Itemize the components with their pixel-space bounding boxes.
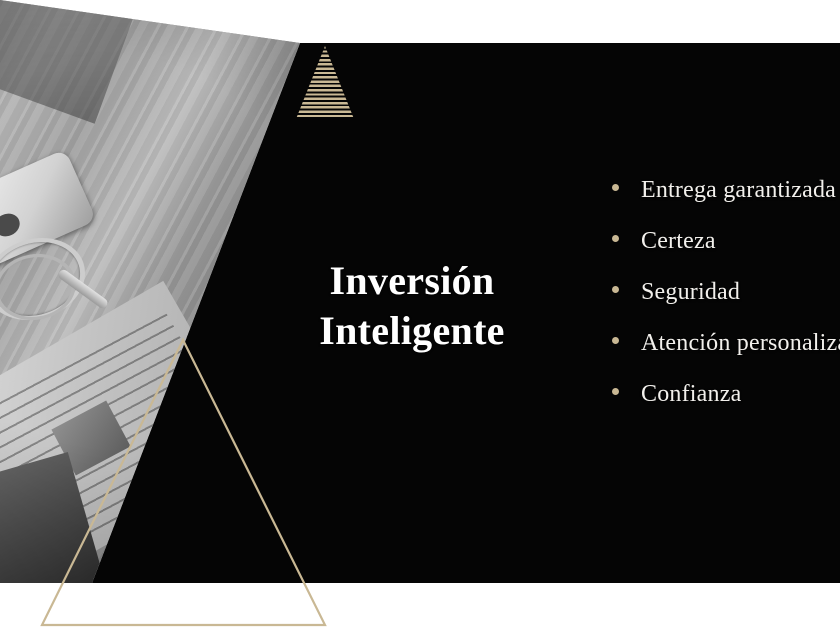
list-item: Seguridad xyxy=(612,278,840,329)
page-title: Inversión Inteligente xyxy=(262,256,562,356)
list-item-label: Confianza xyxy=(641,380,741,408)
page-title-line-1: Inversión xyxy=(262,256,562,306)
page-title-line-2: Inteligente xyxy=(262,306,562,356)
list-item-label: Certeza xyxy=(641,227,716,255)
list-item-label: Entrega garantizada xyxy=(641,176,836,204)
bullet-dot-icon xyxy=(612,286,619,293)
bottom-white-bar xyxy=(0,583,840,630)
bullet-dot-icon xyxy=(612,337,619,344)
list-item: Confianza xyxy=(612,380,840,431)
bullet-dot-icon xyxy=(612,184,619,191)
logo-stripes xyxy=(296,46,354,119)
presentation-slide: Inversión Inteligente Entrega garantizad… xyxy=(0,0,840,630)
bullet-dot-icon xyxy=(612,235,619,242)
bullet-dot-icon xyxy=(612,388,619,395)
list-item: Entrega garantizada xyxy=(612,176,840,227)
list-item-label: Seguridad xyxy=(641,278,740,306)
list-item-label: Atención personalizada xyxy=(641,329,840,357)
striped-pyramid-logo-icon xyxy=(296,46,354,119)
list-item: Atención personalizada xyxy=(612,329,840,380)
list-item: Certeza xyxy=(612,227,840,278)
benefits-list: Entrega garantizada Certeza Seguridad At… xyxy=(612,176,840,431)
